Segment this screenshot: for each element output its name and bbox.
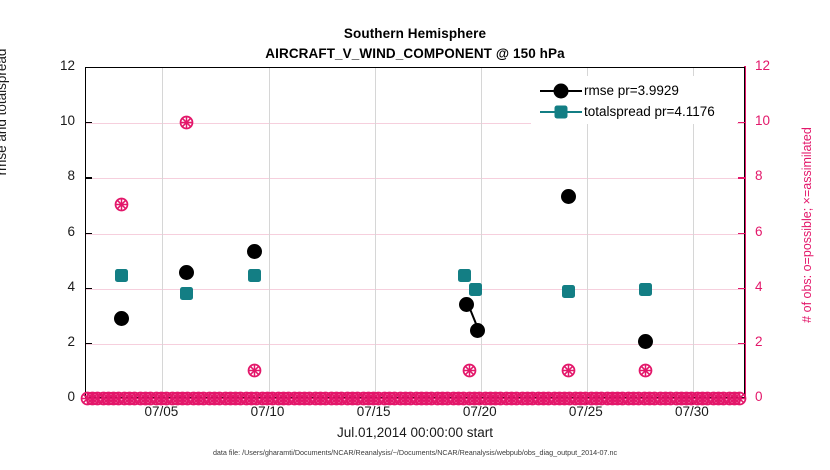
legend-marker-circle-icon — [538, 83, 584, 99]
legend-label-totalspread: totalspread pr=4.1176 — [584, 104, 715, 119]
y-tick-label-right: 12 — [755, 58, 795, 73]
gridline-horizontal — [86, 178, 744, 179]
obs-count-marker — [247, 363, 262, 378]
y-tick-mark-right — [738, 177, 745, 178]
y-tick-mark-left — [85, 177, 92, 178]
x-tick-label: 07/20 — [440, 404, 520, 419]
x-tick-label: 07/15 — [334, 404, 414, 419]
totalspread-data-point — [639, 283, 652, 296]
y-tick-label-right: 8 — [755, 168, 795, 183]
legend-item-totalspread[interactable]: totalspread pr=4.1176 — [538, 101, 736, 122]
gridline-vertical — [162, 68, 163, 397]
y-tick-label-right: 6 — [755, 224, 795, 239]
x-axis-label: Jul.01,2014 00:00:00 start — [0, 425, 830, 440]
totalspread-data-point — [248, 269, 261, 282]
legend-label-rmse: rmse pr=3.9929 — [584, 83, 679, 98]
y-tick-mark-right — [738, 233, 745, 234]
obs-count-marker — [732, 391, 747, 406]
rmse-data-point — [638, 334, 653, 349]
legend-marker-square-icon — [538, 104, 584, 120]
legend-item-rmse[interactable]: rmse pr=3.9929 — [538, 80, 736, 101]
y-tick-mark-right — [738, 343, 745, 344]
rmse-data-point — [470, 323, 485, 338]
y-tick-label-right: 4 — [755, 279, 795, 294]
y-tick-label-left: 4 — [35, 279, 75, 294]
y-tick-mark-left — [85, 122, 92, 123]
totalspread-data-point — [458, 269, 471, 282]
legend: rmse pr=3.9929 totalspread pr=4.1176 — [531, 76, 737, 124]
y-tick-label-left: 6 — [35, 224, 75, 239]
obs-count-marker — [462, 363, 477, 378]
gridline-vertical — [375, 68, 376, 397]
y-tick-label-right: 10 — [755, 113, 795, 128]
y-axis-label-right: # of obs: o=possible; ×=assimilated — [800, 60, 814, 390]
x-tick-label: 07/05 — [121, 404, 201, 419]
y-tick-label-left: 0 — [35, 389, 75, 404]
x-tick-label: 07/10 — [228, 404, 308, 419]
gridline-horizontal — [86, 234, 744, 235]
chart-title-line1: Southern Hemisphere — [0, 24, 830, 44]
y-tick-mark-right — [738, 122, 745, 123]
obs-count-marker — [179, 115, 194, 130]
chart-title: Southern Hemisphere AIRCRAFT_V_WIND_COMP… — [0, 24, 830, 64]
totalspread-data-point — [115, 269, 128, 282]
obs-count-marker — [638, 363, 653, 378]
gridline-vertical — [481, 68, 482, 397]
y-tick-mark-left — [85, 343, 92, 344]
plot-figure: Southern Hemisphere AIRCRAFT_V_WIND_COMP… — [0, 0, 830, 470]
totalspread-data-point — [469, 283, 482, 296]
y-tick-label-left: 8 — [35, 168, 75, 183]
y-tick-label-left: 2 — [35, 334, 75, 349]
y-tick-label-right: 2 — [755, 334, 795, 349]
obs-count-marker — [114, 197, 129, 212]
y-tick-label-left: 10 — [35, 113, 75, 128]
chart-title-line2: AIRCRAFT_V_WIND_COMPONENT @ 150 hPa — [0, 44, 830, 64]
x-tick-label: 07/25 — [546, 404, 626, 419]
y-tick-label-right: 0 — [755, 389, 795, 404]
x-tick-label: 07/30 — [652, 404, 732, 419]
y-tick-label-left: 12 — [35, 58, 75, 73]
totalspread-data-point — [562, 285, 575, 298]
rmse-data-point — [114, 311, 129, 326]
y-axis-label-left: rmse and totalspread — [0, 0, 9, 232]
totalspread-data-point — [180, 287, 193, 300]
gridline-vertical — [269, 68, 270, 397]
y-tick-mark-left — [85, 288, 92, 289]
data-file-caption: data file: /Users/gharamti/Documents/NCA… — [0, 448, 830, 457]
obs-count-marker — [561, 363, 576, 378]
y-tick-mark-right — [738, 288, 745, 289]
y-tick-mark-left — [85, 233, 92, 234]
